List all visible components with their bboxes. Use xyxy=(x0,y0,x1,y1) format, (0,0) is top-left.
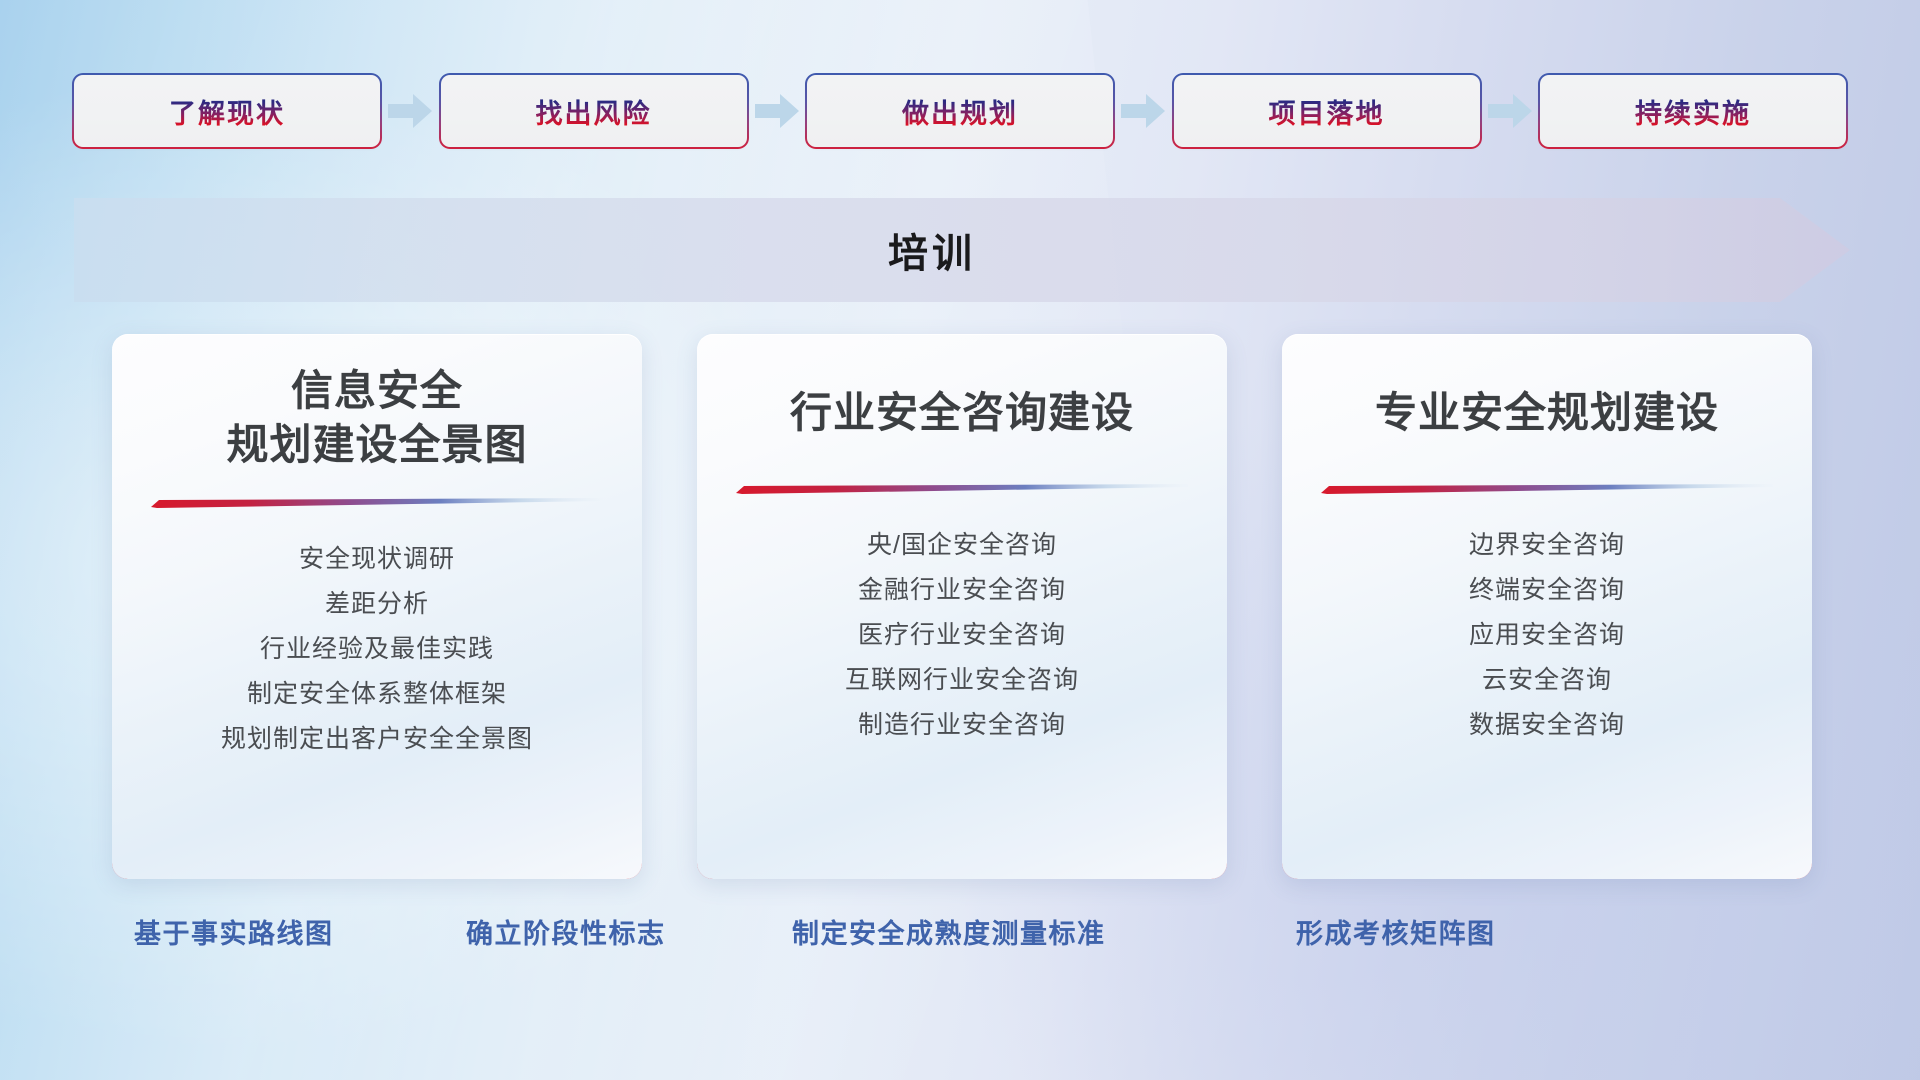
arrow-right-icon xyxy=(1119,91,1167,131)
card-divider xyxy=(151,498,603,507)
card-group: 信息安全 规划建设全景图 xyxy=(112,334,1812,879)
card-inner: 行业安全咨询建设 xyxy=(697,334,1227,879)
step-label: 找出风险 xyxy=(536,92,652,131)
card-inner: 信息安全 规划建设全景图 xyxy=(112,334,642,879)
card-divider xyxy=(736,484,1188,493)
list-item: 制定安全体系整体框架 xyxy=(112,672,642,717)
card-divider xyxy=(1321,484,1773,493)
step-label: 项目落地 xyxy=(1269,92,1385,131)
list-item: 制造行业安全咨询 xyxy=(697,703,1227,748)
list-item: 差距分析 xyxy=(112,582,642,627)
caption-row: 基于事实路线图 确立阶段性标志 制定安全成熟度测量标准 形成考核矩阵图 xyxy=(0,912,1920,962)
step-box-5[interactable]: 持续实施 xyxy=(1540,75,1846,147)
step-box-2[interactable]: 找出风险 xyxy=(441,75,747,147)
step-box-3[interactable]: 做出规划 xyxy=(807,75,1113,147)
card-item-list: 安全现状调研 差距分析 行业经验及最佳实践 制定安全体系整体框架 规划制定出客户… xyxy=(112,537,642,762)
arrow-right-icon xyxy=(386,91,434,131)
list-item: 安全现状调研 xyxy=(112,537,642,582)
process-step-flow: 了解现状 找出风险 做出规划 项目落地 xyxy=(74,75,1846,147)
card-inner: 专业安全规划建设 xyxy=(1282,334,1812,879)
caption-1: 确立阶段性标志 xyxy=(466,912,666,951)
list-item: 数据安全咨询 xyxy=(1282,703,1812,748)
step-box-4[interactable]: 项目落地 xyxy=(1174,75,1480,147)
card-item-list: 边界安全咨询 终端安全咨询 应用安全咨询 云安全咨询 数据安全咨询 xyxy=(1282,523,1812,748)
list-item: 边界安全咨询 xyxy=(1282,523,1812,568)
list-item: 终端安全咨询 xyxy=(1282,568,1812,613)
card-industry-security-consulting[interactable]: 行业安全咨询建设 xyxy=(697,334,1227,879)
step-label: 持续实施 xyxy=(1635,92,1751,131)
arrow-right-icon xyxy=(1486,91,1534,131)
step-label: 了解现状 xyxy=(169,92,285,131)
list-item: 央/国企安全咨询 xyxy=(697,523,1227,568)
list-item: 互联网行业安全咨询 xyxy=(697,658,1227,703)
card-title: 专业安全规划建设 xyxy=(1375,386,1719,440)
list-item: 行业经验及最佳实践 xyxy=(112,627,642,672)
caption-3: 形成考核矩阵图 xyxy=(1296,912,1496,951)
caption-0: 基于事实路线图 xyxy=(134,912,334,951)
card-information-security-blueprint[interactable]: 信息安全 规划建设全景图 xyxy=(112,334,642,879)
step-box-1[interactable]: 了解现状 xyxy=(74,75,380,147)
list-item: 金融行业安全咨询 xyxy=(697,568,1227,613)
card-item-list: 央/国企安全咨询 金融行业安全咨询 医疗行业安全咨询 互联网行业安全咨询 制造行… xyxy=(697,523,1227,748)
list-item: 规划制定出客户安全全景图 xyxy=(112,717,642,762)
arrow-right-icon xyxy=(753,91,801,131)
banner-title: 培训 xyxy=(74,198,1850,302)
card-title: 行业安全咨询建设 xyxy=(790,386,1134,440)
card-title: 信息安全 规划建设全景图 xyxy=(226,364,527,472)
caption-2: 制定安全成熟度测量标准 xyxy=(792,912,1106,951)
slide-canvas: 了解现状 找出风险 做出规划 项目落地 xyxy=(0,0,1920,1080)
card-professional-security-planning[interactable]: 专业安全规划建设 xyxy=(1282,334,1812,879)
list-item: 云安全咨询 xyxy=(1282,658,1812,703)
step-label: 做出规划 xyxy=(902,92,1018,131)
list-item: 医疗行业安全咨询 xyxy=(697,613,1227,658)
list-item: 应用安全咨询 xyxy=(1282,613,1812,658)
training-banner: 培训 xyxy=(74,198,1850,302)
